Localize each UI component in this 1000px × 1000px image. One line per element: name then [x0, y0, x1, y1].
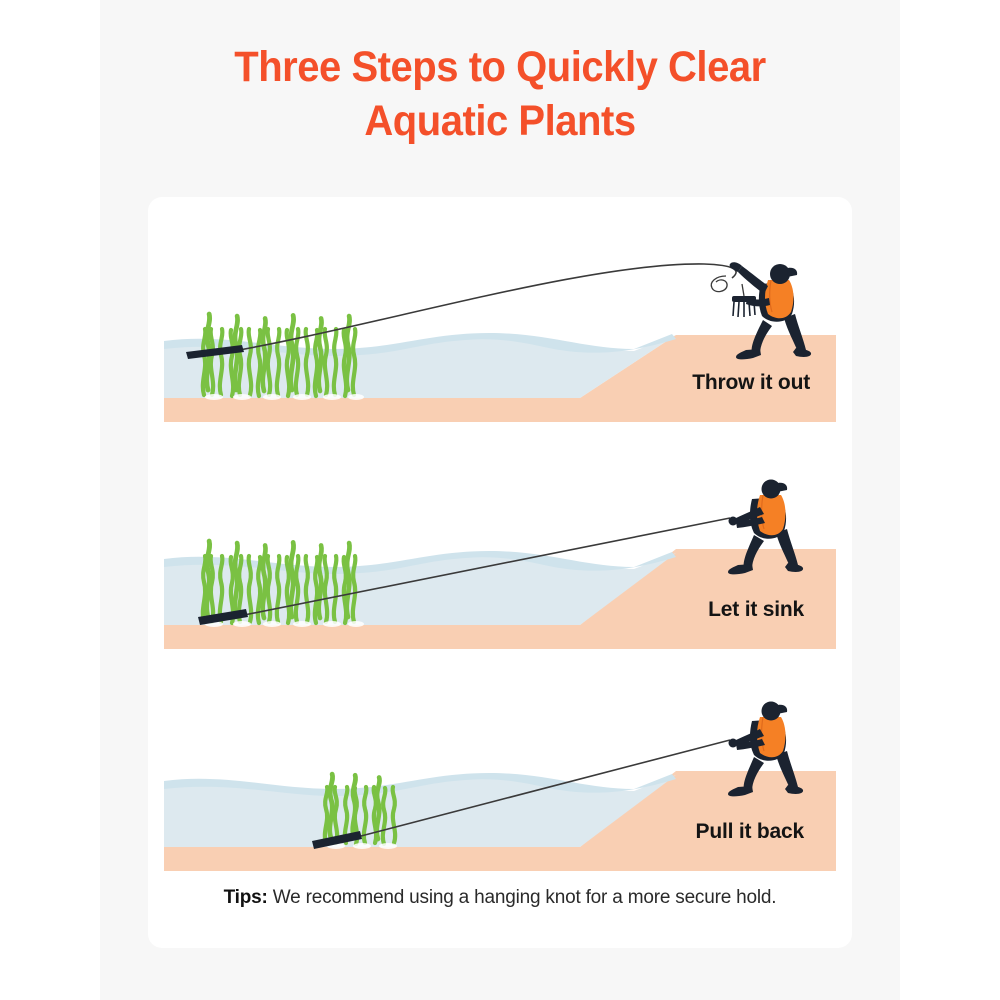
page-title-line-1: Three Steps to Quickly Clear: [128, 40, 872, 94]
tips-text: We recommend using a hanging knot for a …: [268, 887, 777, 908]
step-label-2: Let it sink: [708, 598, 804, 622]
tips-row: Tips: We recommend using a hanging knot …: [148, 887, 852, 909]
step-illustration-1: Throw it out: [164, 242, 836, 422]
step-illustration-2: Let it sink: [164, 469, 836, 649]
tips-label: Tips:: [224, 887, 268, 908]
page-title: Three Steps to Quickly Clear Aquatic Pla…: [128, 40, 872, 148]
step-label-1: Throw it out: [692, 371, 810, 395]
page-title-line-2: Aquatic Plants: [128, 94, 872, 148]
infographic-page: Three Steps to Quickly Clear Aquatic Pla…: [0, 0, 1000, 1000]
step-illustration-3: Pull it back: [164, 691, 836, 871]
step-label-3: Pull it back: [696, 820, 804, 844]
steps-card: Throw it out: [148, 197, 852, 948]
